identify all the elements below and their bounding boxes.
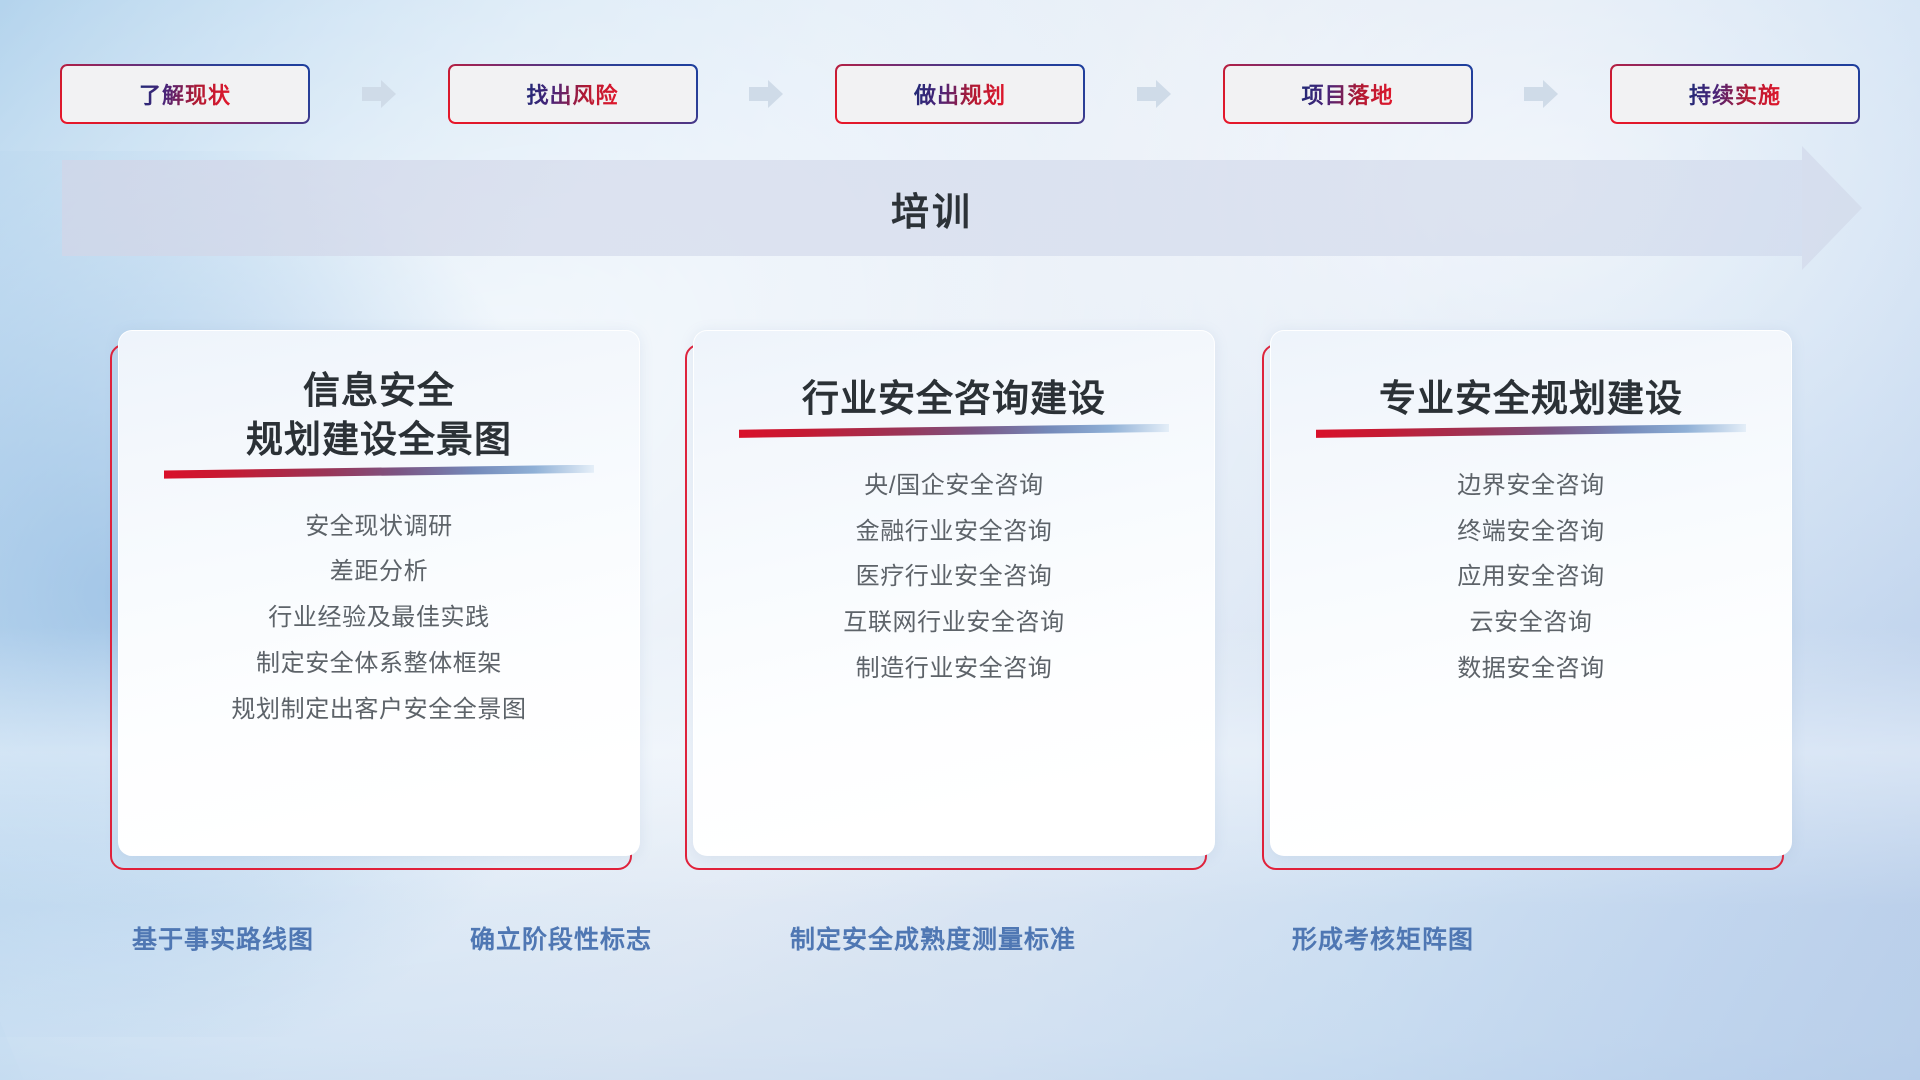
step-box-5[interactable]: 持续实施 bbox=[1610, 64, 1860, 124]
list-item: 金融行业安全咨询 bbox=[856, 518, 1053, 547]
step-label: 项目落地 bbox=[1301, 78, 1393, 110]
list-item: 央/国企安全咨询 bbox=[864, 472, 1043, 501]
card-title: 行业安全咨询建设 bbox=[720, 375, 1188, 424]
list-item: 制定安全体系整体框架 bbox=[256, 650, 502, 679]
chevron-right-arrow-icon bbox=[749, 78, 783, 110]
card-divider bbox=[164, 465, 594, 479]
step-box-1[interactable]: 了解现状 bbox=[60, 64, 310, 124]
list-item: 互联网行业安全咨询 bbox=[843, 609, 1064, 638]
list-item: 规划制定出客户安全全景图 bbox=[231, 696, 526, 725]
card-surface: 信息安全 规划建设全景图 安全现状调研 差距分析 行业经验及最佳实践 制定安全体… bbox=[118, 330, 640, 856]
footer-label-row: 基于事实路线图 确立阶段性标志 制定安全成熟度测量标准 形成考核矩阵图 bbox=[0, 920, 1920, 966]
training-arrow-band: 培训 bbox=[62, 160, 1862, 256]
card-surface: 行业安全咨询建设 央/国企安全咨询 金融行业安全咨询 医疗行业安全咨询 互联网行… bbox=[693, 330, 1215, 856]
list-item: 差距分析 bbox=[330, 558, 428, 587]
card-surface: 专业安全规划建设 边界安全咨询 终端安全咨询 应用安全咨询 云安全咨询 数据安全… bbox=[1270, 330, 1792, 856]
step-box-3[interactable]: 做出规划 bbox=[835, 64, 1085, 124]
list-item: 数据安全咨询 bbox=[1457, 655, 1605, 684]
training-band-title: 培训 bbox=[62, 160, 1802, 256]
card-divider bbox=[739, 424, 1169, 438]
footer-label-4: 形成考核矩阵图 bbox=[1292, 920, 1474, 956]
list-item: 云安全咨询 bbox=[1470, 609, 1593, 638]
step-box-2[interactable]: 找出风险 bbox=[448, 64, 698, 124]
card-title: 专业安全规划建设 bbox=[1297, 375, 1765, 424]
list-item: 制造行业安全咨询 bbox=[856, 655, 1053, 684]
service-card-3[interactable]: 专业安全规划建设 边界安全咨询 终端安全咨询 应用安全咨询 云安全咨询 数据安全… bbox=[1262, 330, 1792, 870]
list-item: 行业经验及最佳实践 bbox=[268, 604, 489, 633]
list-item: 应用安全咨询 bbox=[1457, 563, 1605, 592]
footer-label-2: 确立阶段性标志 bbox=[470, 920, 652, 956]
list-item: 安全现状调研 bbox=[305, 513, 453, 542]
list-item: 医疗行业安全咨询 bbox=[856, 563, 1053, 592]
step-label: 持续实施 bbox=[1689, 78, 1781, 110]
step-box-4[interactable]: 项目落地 bbox=[1223, 64, 1473, 124]
service-card-2[interactable]: 行业安全咨询建设 央/国企安全咨询 金融行业安全咨询 医疗行业安全咨询 互联网行… bbox=[685, 330, 1215, 870]
slide-canvas: 了解现状 找出风险 做出规划 项目落地 持续实施 培训 bbox=[0, 0, 1920, 1080]
step-label: 找出风险 bbox=[526, 78, 618, 110]
right-arrow-band-icon bbox=[1802, 146, 1862, 270]
list-item: 边界安全咨询 bbox=[1457, 472, 1605, 501]
chevron-right-arrow-icon bbox=[362, 78, 396, 110]
list-item: 终端安全咨询 bbox=[1457, 518, 1605, 547]
footer-label-1: 基于事实路线图 bbox=[132, 920, 314, 956]
card-list: 央/国企安全咨询 金融行业安全咨询 医疗行业安全咨询 互联网行业安全咨询 制造行… bbox=[720, 472, 1188, 684]
step-label: 做出规划 bbox=[914, 78, 1006, 110]
card-list: 边界安全咨询 终端安全咨询 应用安全咨询 云安全咨询 数据安全咨询 bbox=[1297, 472, 1765, 684]
process-step-row: 了解现状 找出风险 做出规划 项目落地 持续实施 bbox=[60, 64, 1860, 124]
footer-label-3: 制定安全成熟度测量标准 bbox=[790, 920, 1076, 956]
card-list: 安全现状调研 差距分析 行业经验及最佳实践 制定安全体系整体框架 规划制定出客户… bbox=[145, 513, 613, 725]
card-divider bbox=[1316, 424, 1746, 438]
chevron-right-arrow-icon bbox=[1137, 78, 1171, 110]
service-card-1[interactable]: 信息安全 规划建设全景图 安全现状调研 差距分析 行业经验及最佳实践 制定安全体… bbox=[110, 330, 640, 870]
service-card-row: 信息安全 规划建设全景图 安全现状调研 差距分析 行业经验及最佳实践 制定安全体… bbox=[0, 330, 1920, 890]
step-label: 了解现状 bbox=[139, 78, 231, 110]
card-title: 信息安全 规划建设全景图 bbox=[145, 367, 613, 465]
chevron-right-arrow-icon bbox=[1524, 78, 1558, 110]
